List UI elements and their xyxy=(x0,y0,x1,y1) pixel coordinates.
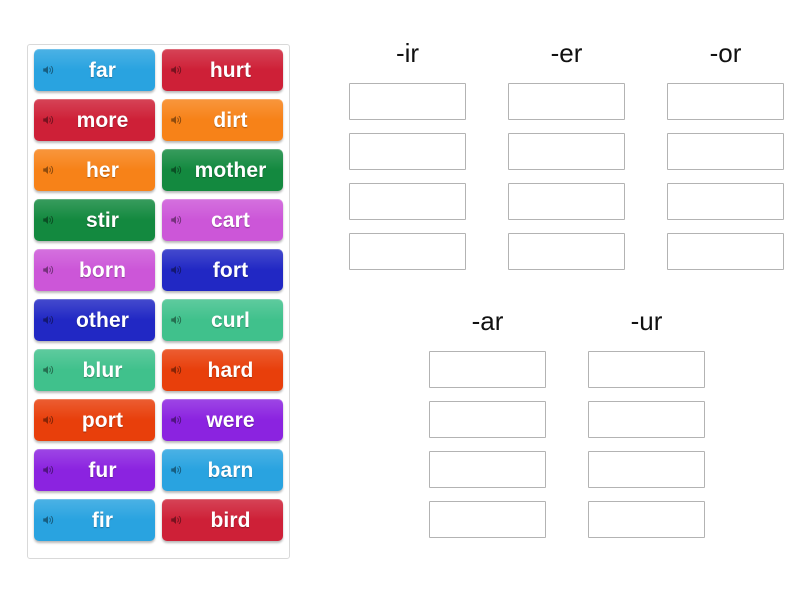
speaker-icon xyxy=(42,114,55,127)
drop-column: -er xyxy=(487,40,646,283)
word-tile[interactable]: were xyxy=(162,399,283,441)
speaker-icon xyxy=(170,64,183,77)
drop-column-header: -ir xyxy=(328,40,487,66)
speaker-icon xyxy=(42,414,55,427)
word-tile-grid: farhurtmoredirthermotherstircartbornfort… xyxy=(32,49,285,541)
word-tile[interactable]: more xyxy=(34,99,155,141)
word-tile-label: barn xyxy=(192,460,254,481)
drop-column-header: -ar xyxy=(408,308,567,334)
speaker-icon xyxy=(42,164,55,177)
drop-group-row-bottom: -ar-ur xyxy=(408,308,726,551)
word-tile[interactable]: other xyxy=(34,299,155,341)
word-tile[interactable]: port xyxy=(34,399,155,441)
drop-slot[interactable] xyxy=(588,351,705,388)
word-tile[interactable]: fort xyxy=(162,249,283,291)
drop-slot[interactable] xyxy=(429,451,546,488)
speaker-icon xyxy=(170,164,183,177)
activity-stage: farhurtmoredirthermotherstircartbornfort… xyxy=(0,0,800,600)
word-tile-label: hard xyxy=(192,360,254,381)
word-tile-label: more xyxy=(61,110,129,131)
drop-column: -ar xyxy=(408,308,567,551)
speaker-icon xyxy=(42,314,55,327)
drop-slot[interactable] xyxy=(667,233,784,270)
drop-column-header: -er xyxy=(487,40,646,66)
word-tile-label: blur xyxy=(66,360,122,381)
speaker-icon xyxy=(170,364,183,377)
speaker-icon xyxy=(42,214,55,227)
word-tile[interactable]: fur xyxy=(34,449,155,491)
drop-slot[interactable] xyxy=(508,183,625,220)
drop-slot[interactable] xyxy=(349,233,466,270)
word-bank-panel: farhurtmoredirthermotherstircartbornfort… xyxy=(27,44,290,559)
word-tile[interactable]: born xyxy=(34,249,155,291)
word-tile[interactable]: bird xyxy=(162,499,283,541)
word-tile[interactable]: her xyxy=(34,149,155,191)
drop-slot[interactable] xyxy=(667,133,784,170)
word-tile-label: were xyxy=(190,410,254,431)
speaker-icon xyxy=(170,264,183,277)
drop-column: -ur xyxy=(567,308,726,551)
word-tile-label: fort xyxy=(197,260,248,281)
word-tile-label: fir xyxy=(76,510,113,531)
drop-slot[interactable] xyxy=(508,233,625,270)
drop-column-header: -or xyxy=(646,40,800,66)
word-tile-label: born xyxy=(63,260,126,281)
drop-slot[interactable] xyxy=(429,401,546,438)
drop-slot[interactable] xyxy=(667,83,784,120)
drop-column: -or xyxy=(646,40,800,283)
word-tile-label: fur xyxy=(72,460,116,481)
speaker-icon xyxy=(42,514,55,527)
word-tile-label: other xyxy=(60,310,129,331)
drop-column-header: -ur xyxy=(567,308,726,334)
word-tile[interactable]: blur xyxy=(34,349,155,391)
word-tile-label: dirt xyxy=(197,110,247,131)
word-tile[interactable]: mother xyxy=(162,149,283,191)
drop-column: -ir xyxy=(328,40,487,283)
drop-slot[interactable] xyxy=(588,451,705,488)
word-tile[interactable]: stir xyxy=(34,199,155,241)
drop-slot[interactable] xyxy=(429,351,546,388)
word-tile-label: cart xyxy=(195,210,250,231)
drop-group-row-top: -ir-er-or xyxy=(328,40,800,283)
word-tile[interactable]: dirt xyxy=(162,99,283,141)
drop-slot[interactable] xyxy=(349,183,466,220)
word-tile[interactable]: hurt xyxy=(162,49,283,91)
word-tile-label: her xyxy=(70,160,119,181)
drop-slot[interactable] xyxy=(588,501,705,538)
speaker-icon xyxy=(42,264,55,277)
word-tile[interactable]: cart xyxy=(162,199,283,241)
word-tile-label: mother xyxy=(179,160,267,181)
drop-slot[interactable] xyxy=(429,501,546,538)
drop-slot[interactable] xyxy=(508,133,625,170)
speaker-icon xyxy=(170,464,183,477)
speaker-icon xyxy=(170,214,183,227)
speaker-icon xyxy=(42,364,55,377)
word-tile-label: bird xyxy=(194,510,250,531)
speaker-icon xyxy=(42,464,55,477)
word-tile[interactable]: fir xyxy=(34,499,155,541)
speaker-icon xyxy=(170,514,183,527)
word-tile[interactable]: curl xyxy=(162,299,283,341)
speaker-icon xyxy=(170,414,183,427)
drop-zone-area: -ir-er-or -ar-ur xyxy=(320,40,790,560)
drop-slot[interactable] xyxy=(508,83,625,120)
word-tile[interactable]: far xyxy=(34,49,155,91)
speaker-icon xyxy=(170,114,183,127)
word-tile-label: far xyxy=(73,60,116,81)
word-tile-label: port xyxy=(66,410,123,431)
word-tile-label: hurt xyxy=(194,60,251,81)
word-tile[interactable]: barn xyxy=(162,449,283,491)
word-tile-label: curl xyxy=(195,310,250,331)
word-tile[interactable]: hard xyxy=(162,349,283,391)
drop-slot[interactable] xyxy=(349,133,466,170)
word-tile-label: stir xyxy=(70,210,119,231)
drop-slot[interactable] xyxy=(349,83,466,120)
speaker-icon xyxy=(42,64,55,77)
speaker-icon xyxy=(170,314,183,327)
drop-slot[interactable] xyxy=(667,183,784,220)
drop-slot[interactable] xyxy=(588,401,705,438)
